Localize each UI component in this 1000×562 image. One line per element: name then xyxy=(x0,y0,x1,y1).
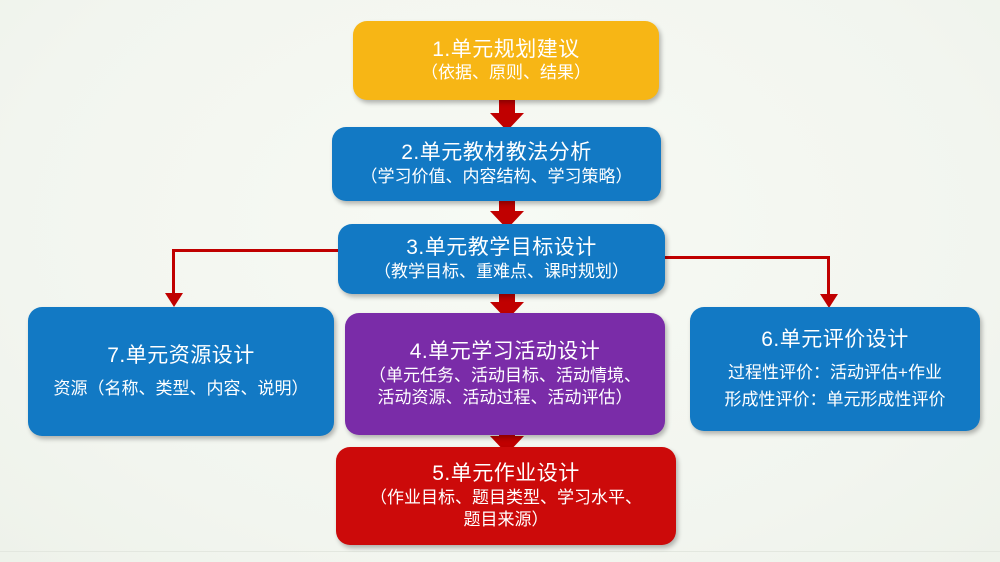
arrow-down-icon-3-to-6 xyxy=(820,294,838,308)
slide-bottom-divider xyxy=(0,551,1000,552)
node-subtitle-line: （作业目标、题目类型、学习水平、 xyxy=(370,487,642,509)
connector-3-to-6-horizontal xyxy=(663,256,830,259)
node-unit-resource-design[interactable]: 7.单元资源设计 资源（名称、类型、内容、说明） xyxy=(28,307,334,436)
node-unit-planning-proposal[interactable]: 1.单元规划建议 （依据、原则、结果） xyxy=(353,21,659,100)
node-subtitle-line: （依据、原则、结果） xyxy=(421,62,591,84)
node-unit-evaluation-design[interactable]: 6.单元评价设计 过程性评价：活动评估+作业 形成性评价：单元形成性评价 xyxy=(690,307,980,431)
connector-3-to-6-vertical xyxy=(827,256,830,296)
node-materials-pedagogy-analysis[interactable]: 2.单元教材教法分析 （学习价值、内容结构、学习策略） xyxy=(332,127,661,201)
flowchart-canvas: 1.单元规划建议 （依据、原则、结果） 2.单元教材教法分析 （学习价值、内容结… xyxy=(0,0,1000,562)
node-subtitle-line: （单元任务、活动目标、活动情境、 xyxy=(369,365,641,387)
arrow-down-icon-3-to-7 xyxy=(165,293,183,307)
connector-3-to-7-horizontal xyxy=(172,249,340,252)
node-title: 2.单元教材教法分析 xyxy=(401,140,592,166)
node-subtitle-line: 资源（名称、类型、内容、说明） xyxy=(54,378,309,400)
node-subtitle-line: 形成性评价：单元形成性评价 xyxy=(725,389,946,411)
node-subtitle-line: 过程性评价：活动评估+作业 xyxy=(728,362,942,384)
node-teaching-objective-design[interactable]: 3.单元教学目标设计 （教学目标、重难点、课时规划） xyxy=(338,224,665,294)
node-subtitle-line: 活动资源、活动过程、活动评估） xyxy=(378,387,633,409)
node-subtitle-line: 题目来源） xyxy=(464,509,549,531)
node-title: 5.单元作业设计 xyxy=(432,461,580,487)
node-unit-homework-design[interactable]: 5.单元作业设计 （作业目标、题目类型、学习水平、 题目来源） xyxy=(336,447,676,545)
node-title: 3.单元教学目标设计 xyxy=(406,235,597,261)
node-title: 6.单元评价设计 xyxy=(761,327,909,353)
node-learning-activity-design[interactable]: 4.单元学习活动设计 （单元任务、活动目标、活动情境、 活动资源、活动过程、活动… xyxy=(345,313,665,435)
node-title: 4.单元学习活动设计 xyxy=(410,339,601,365)
node-title: 7.单元资源设计 xyxy=(107,343,255,369)
node-subtitle-line: （学习价值、内容结构、学习策略） xyxy=(361,166,633,188)
node-title: 1.单元规划建议 xyxy=(432,37,580,63)
arrow-down-icon-1-to-2 xyxy=(487,95,527,131)
node-subtitle-line: （教学目标、重难点、课时规划） xyxy=(374,261,629,283)
connector-3-to-7-vertical xyxy=(172,249,175,295)
